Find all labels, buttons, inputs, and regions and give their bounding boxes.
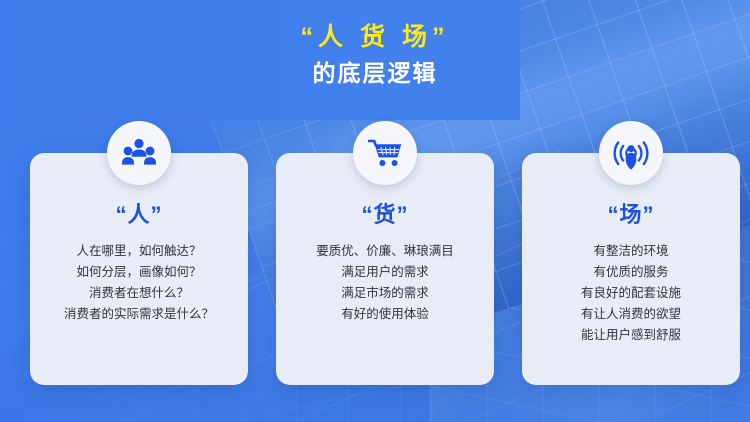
people-group-icon — [122, 138, 156, 168]
broadcast-person-icon — [613, 136, 649, 170]
card-line: 有优质的服务 — [530, 262, 732, 283]
card-icon-badge — [353, 121, 417, 185]
card-title: “货” — [276, 197, 494, 229]
card-chang[interactable]: “场” 有整洁的环境 有优质的服务 有良好的配套设施 有让人消费的欲望 能让用户… — [522, 153, 740, 385]
shopping-cart-icon — [368, 138, 402, 168]
card-line: 有整洁的环境 — [530, 241, 732, 262]
card-body: 有整洁的环境 有优质的服务 有良好的配套设施 有让人消费的欲望 能让用户感到舒服 — [530, 241, 732, 346]
card-line: 能让用户感到舒服 — [530, 325, 732, 346]
card-icon-badge — [107, 121, 171, 185]
card-line: 如何分层，画像如何？ — [38, 262, 240, 283]
card-body: 要质优、价廉、琳琅满目 满足用户的需求 满足市场的需求 有好的使用体验 — [284, 241, 486, 325]
slide-root: “人 货 场” 的底层逻辑 “人” 人在哪里，如何 — [0, 0, 750, 422]
card-line: 人在哪里，如何触达？ — [38, 241, 240, 262]
page-title: “人 货 场” — [0, 22, 750, 53]
page-subtitle: 的底层逻辑 — [0, 59, 750, 89]
card-line: 有让人消费的欲望 — [530, 304, 732, 325]
card-huo[interactable]: “货” 要质优、价廉、琳琅满目 满足用户的需求 满足市场的需求 有好的使用体验 — [276, 153, 494, 385]
card-line: 满足用户的需求 — [284, 262, 486, 283]
card-line: 消费者在想什么？ — [38, 283, 240, 304]
card-body: 人在哪里，如何触达？ 如何分层，画像如何？ 消费者在想什么？ 消费者的实际需求是… — [38, 241, 240, 325]
card-line: 满足市场的需求 — [284, 283, 486, 304]
card-line: 有好的使用体验 — [284, 304, 486, 325]
card-line: 消费者的实际需求是什么？ — [38, 304, 240, 325]
title-block: “人 货 场” 的底层逻辑 — [0, 22, 750, 89]
card-line: 要质优、价廉、琳琅满目 — [284, 241, 486, 262]
card-line: 有良好的配套设施 — [530, 283, 732, 304]
card-title: “场” — [522, 197, 740, 229]
card-title: “人” — [30, 197, 248, 229]
card-icon-badge — [599, 121, 663, 185]
card-ren[interactable]: “人” 人在哪里，如何触达？ 如何分层，画像如何？ 消费者在想什么？ 消费者的实… — [30, 153, 248, 385]
